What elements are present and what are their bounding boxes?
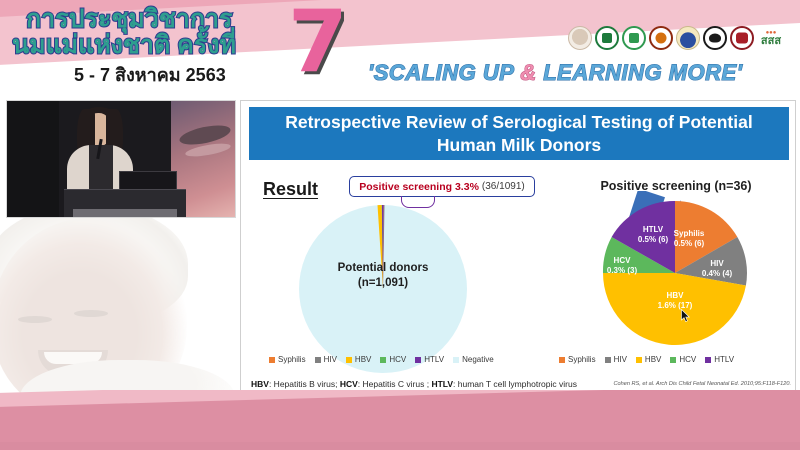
slide-title: Retrospective Review of Serological Test… (249, 107, 789, 160)
legend-swatch-negative (453, 357, 459, 363)
legend2-swatch-hbv (636, 357, 642, 363)
legend2-item-htlv[interactable]: HTLV (705, 355, 734, 364)
slogan-part2: LEARNING MORE' (537, 60, 743, 85)
callout-percent: Positive screening 3.3% (359, 181, 479, 193)
legend-label-negative: Negative (462, 355, 494, 364)
royal-crest-logo (676, 26, 700, 50)
ministry-health-logo (595, 26, 619, 50)
legend-swatch-hiv (315, 357, 321, 363)
legend2-label-hiv: HIV (614, 355, 627, 364)
legend2-swatch-htlv (705, 357, 711, 363)
podium-base (73, 209, 177, 218)
source-citation: Cohen RS, et al. Arch Dis Child Fetal Ne… (591, 381, 791, 387)
potential-donors-line1: Potential donors (297, 261, 469, 276)
footer-band-base (0, 442, 800, 450)
watermark-eye-left (18, 316, 52, 323)
label-hiv: HIV 0.4% (4) (693, 259, 741, 279)
slogan-part1: 'SCALING UP (368, 60, 520, 85)
speaker-webcam-feed[interactable] (6, 100, 236, 218)
legend-swatch-hbv (346, 357, 352, 363)
legend-item-hcv[interactable]: HCV (380, 355, 406, 364)
footnote-htlv-abbr: HTLV (431, 379, 453, 389)
conference-title-thai-line1: การประชุมวิชาการ (26, 5, 296, 33)
conference-edition-number: 7 (288, 0, 348, 92)
legend-item-hiv[interactable]: HIV (315, 355, 337, 364)
legend-item-negative[interactable]: Negative (453, 355, 494, 364)
legend2-swatch-hcv (670, 357, 676, 363)
legend2-item-hcv[interactable]: HCV (670, 355, 696, 364)
sponsor-logo-row: ●●● สสส (568, 26, 785, 50)
footnote-hcv-text: : Hepatitis C virus ; (358, 379, 432, 389)
legend2-item-hiv[interactable]: HIV (605, 355, 627, 364)
legend-potential-donors: Syphilis HIV HBV HCV HTLV Negative (269, 355, 494, 364)
mouse-cursor-icon (681, 309, 691, 323)
garuda-emblem-logo (703, 26, 727, 50)
footer-band (0, 390, 800, 450)
positive-screening-callout: Positive screening 3.3% (36/1091) (349, 176, 535, 197)
footnote-hbv-abbr: HBV (251, 379, 269, 389)
legend-item-htlv[interactable]: HTLV (415, 355, 444, 364)
result-label: Result (263, 179, 318, 200)
legend-item-hbv[interactable]: HBV (346, 355, 371, 364)
label-hbv-value: 1.6% (17) (645, 301, 705, 311)
footnote-hbv-text: : Hepatitis B virus; (269, 379, 340, 389)
footnote-hcv-abbr: HCV (340, 379, 358, 389)
label-htlv-name: HTLV (627, 225, 679, 235)
legend2-swatch-syphilis (559, 357, 565, 363)
thai-pediatric-logo (649, 26, 673, 50)
legend2-item-syphilis[interactable]: Syphilis (559, 355, 596, 364)
label-htlv: HTLV 0.5% (6) (627, 225, 679, 245)
legend-item-syphilis[interactable]: Syphilis (269, 355, 306, 364)
legend-label-hcv: HCV (389, 355, 406, 364)
presentation-screen: การประชุมวิชาการ นมแม่แห่งชาติ ครั้งที่ … (0, 0, 800, 450)
legend-label-syphilis: Syphilis (278, 355, 306, 364)
label-htlv-value: 0.5% (6) (627, 235, 679, 245)
conference-title-thai-line2: นมแม่แห่งชาติ ครั้งที่ (12, 31, 302, 59)
conference-date-thai: 5 - 7 สิงหาคม 2563 (74, 60, 226, 89)
potential-donors-line2: (n=1,091) (297, 276, 469, 291)
legend-swatch-hcv (380, 357, 386, 363)
positive-screening-title: Positive screening (n=36) (561, 179, 791, 193)
slide-panel: Retrospective Review of Serological Test… (240, 100, 796, 397)
label-hcv: HCV 0.3% (3) (599, 256, 645, 276)
sss-text: สสส (761, 36, 781, 46)
legend2-label-hcv: HCV (679, 355, 696, 364)
speaker-vest (89, 145, 113, 195)
legend2-item-hbv[interactable]: HBV (636, 355, 661, 364)
legend-swatch-syphilis (269, 357, 275, 363)
label-hbv-name: HBV (645, 291, 705, 301)
legend-swatch-htlv (415, 357, 421, 363)
legend-label-hiv: HIV (324, 355, 337, 364)
legend-label-htlv: HTLV (424, 355, 444, 364)
legend2-swatch-hiv (605, 357, 611, 363)
label-hiv-value: 0.4% (4) (693, 269, 741, 279)
watermark-eye-right (74, 310, 108, 317)
video-wall-left (7, 101, 59, 218)
thaihealth-sss-logo: ●●● สสส (757, 26, 785, 50)
legend2-label-hbv: HBV (645, 355, 661, 364)
callout-fraction: (36/1091) (482, 181, 525, 192)
label-hcv-value: 0.3% (3) (599, 266, 645, 276)
label-hiv-name: HIV (693, 259, 741, 269)
label-hbv: HBV 1.6% (17) (645, 291, 705, 311)
legend2-label-syphilis: Syphilis (568, 355, 596, 364)
label-hcv-name: HCV (599, 256, 645, 266)
legend-label-hbv: HBV (355, 355, 371, 364)
legend2-label-htlv: HTLV (714, 355, 734, 364)
potential-donors-label: Potential donors (n=1,091) (297, 261, 469, 291)
red-crest-logo (730, 26, 754, 50)
conference-header-banner: การประชุมวิชาการ นมแม่แห่งชาติ ครั้งที่ … (0, 0, 800, 95)
conference-slogan: 'SCALING UP & LEARNING MORE' (368, 60, 742, 86)
slogan-ampersand: & (520, 60, 536, 85)
legend-positive-screening: Syphilis HIV HBV HCV HTLV (559, 355, 734, 364)
department-health-logo (622, 26, 646, 50)
footnote-htlv-text: : human T cell lymphotropic virus (453, 379, 577, 389)
royal-seal-logo (568, 26, 592, 50)
